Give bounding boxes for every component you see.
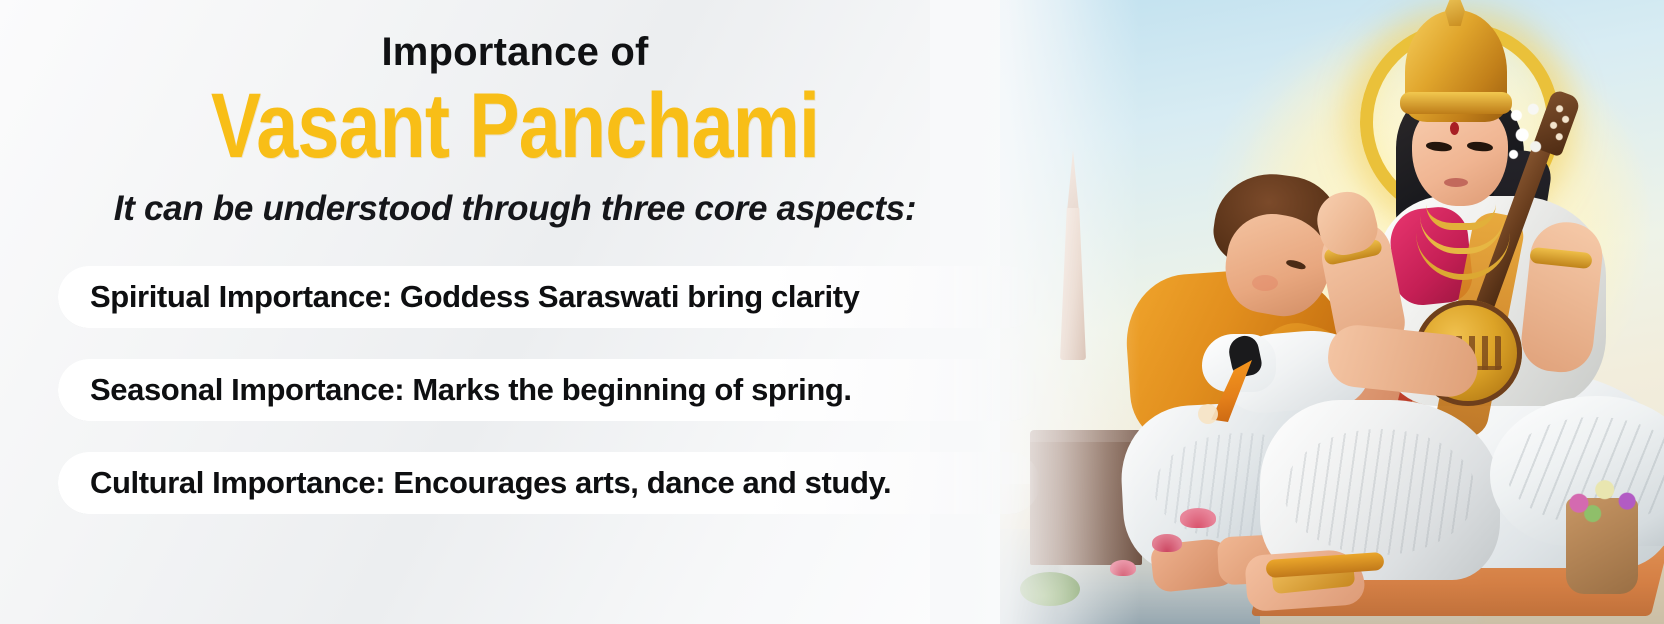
water-lily-pad bbox=[1020, 572, 1080, 606]
list-item: Cultural Importance: Encourages arts, da… bbox=[58, 452, 1040, 514]
crown-band bbox=[1400, 92, 1512, 114]
aspect-list: Spiritual Importance: Goddess Saraswati … bbox=[58, 266, 1048, 545]
aspect-label: Cultural Importance: Encourages arts, da… bbox=[90, 465, 891, 501]
spire-finial bbox=[1067, 150, 1079, 212]
temple-spire-icon bbox=[1058, 150, 1088, 360]
subtitle-text: It can be understood through three core … bbox=[0, 189, 1030, 229]
vasant-panchami-banner: Importance of Vasant Panchami It can be … bbox=[0, 0, 1664, 624]
spire-body bbox=[1060, 208, 1086, 360]
basket-flowers bbox=[1560, 472, 1646, 524]
kicker-text: Importance of bbox=[0, 30, 1030, 74]
swan-beak-tip bbox=[1198, 404, 1218, 424]
page-title: Vasant Panchami bbox=[93, 80, 938, 172]
saraswati-lips bbox=[1444, 178, 1468, 187]
lotus-flower bbox=[1152, 534, 1182, 552]
lotus-flower bbox=[1180, 508, 1216, 528]
aspect-label: Spiritual Importance: Goddess Saraswati … bbox=[90, 279, 860, 315]
list-item: Spiritual Importance: Goddess Saraswati … bbox=[58, 266, 1040, 328]
lotus-flower bbox=[1110, 560, 1136, 576]
boy-cheek bbox=[1252, 275, 1278, 291]
aspect-label: Seasonal Importance: Marks the beginning… bbox=[90, 372, 852, 408]
saraswati-bindi bbox=[1450, 122, 1459, 135]
list-item: Seasonal Importance: Marks the beginning… bbox=[58, 359, 1040, 421]
